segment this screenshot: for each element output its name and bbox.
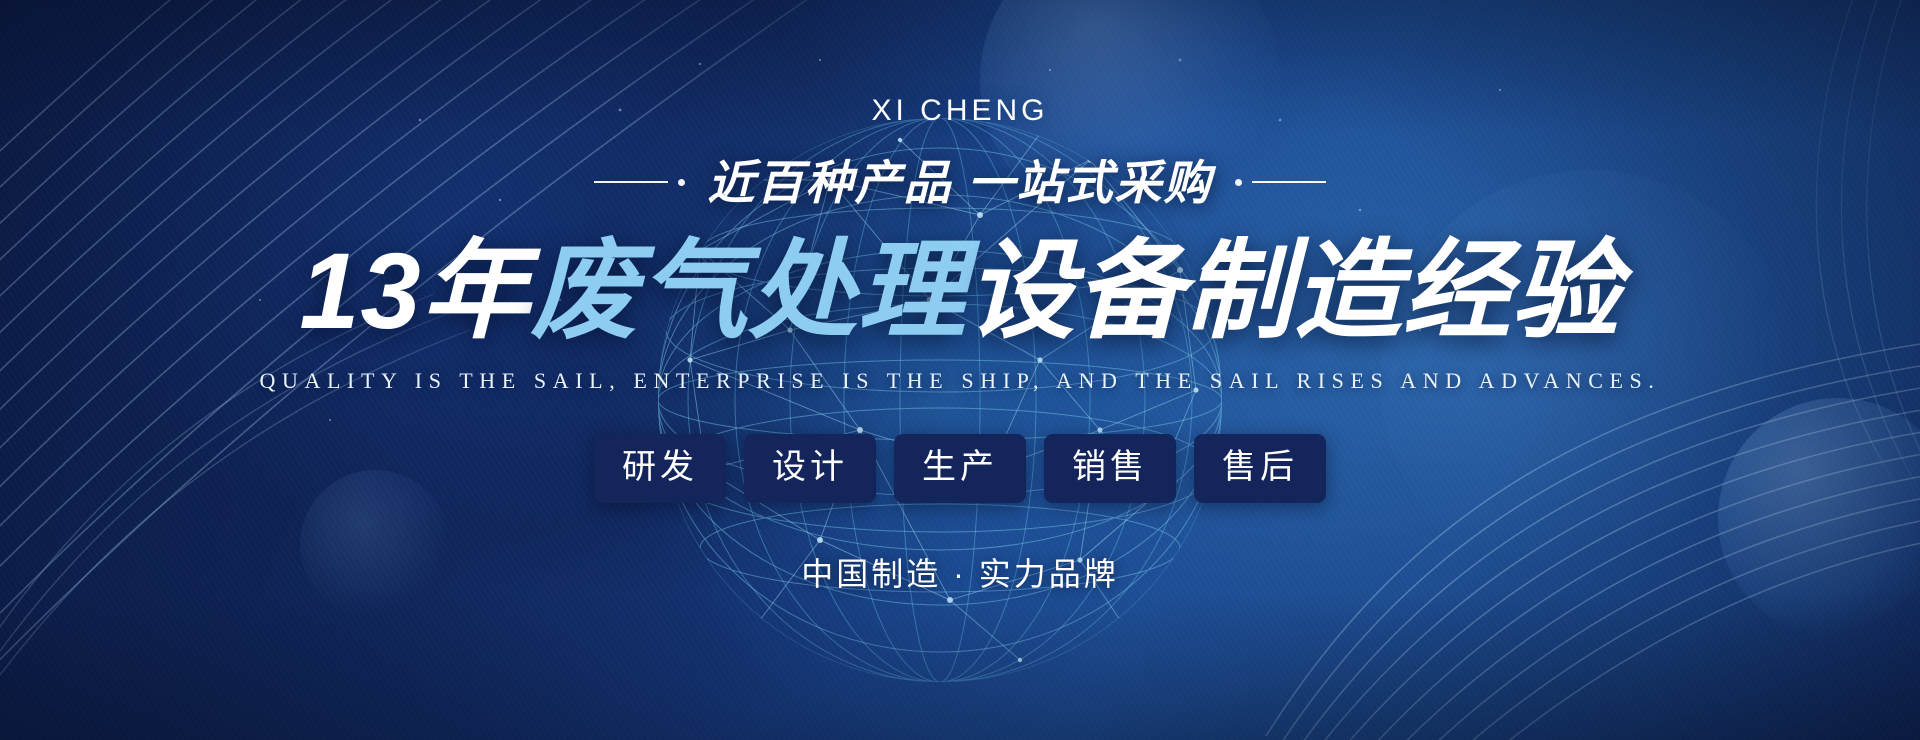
decorative-line-right: [1252, 181, 1326, 183]
pill-rd[interactable]: 研发: [594, 434, 726, 503]
pill-aftersales[interactable]: 售后: [1194, 434, 1326, 503]
footer-slogan: 中国制造 · 实力品牌: [801, 549, 1118, 595]
headline-accent: 废气处理: [531, 230, 967, 351]
brand-english-name: XI CHENG: [871, 96, 1048, 126]
pill-design[interactable]: 设计: [744, 434, 876, 503]
decorative-dot-left: [678, 179, 685, 186]
subtitle-text: 近百种产品 一站式采购: [707, 159, 1212, 206]
headline-lead: 13年: [299, 230, 530, 351]
decorative-dot-right: [1235, 179, 1242, 186]
english-tagline: QUALITY IS THE SAIL, ENTERPRISE IS THE S…: [260, 368, 1661, 394]
service-pill-row: 研发 设计 生产 销售 售后: [594, 434, 1326, 503]
decorative-dash-dot-left-icon: [594, 179, 685, 186]
headline-tail: 设备制造经验: [967, 230, 1621, 351]
pill-production[interactable]: 生产: [894, 434, 1026, 503]
decorative-dot-dash-right-icon: [1235, 179, 1326, 186]
pill-sales[interactable]: 销售: [1044, 434, 1176, 503]
decorative-line-left: [594, 181, 668, 183]
headline: 13年废气处理设备制造经验: [299, 234, 1620, 348]
banner-content: XI CHENG 近百种产品 一站式采购 13年废气处理设备制造经验 QUALI…: [0, 0, 1920, 740]
hero-banner: XI CHENG 近百种产品 一站式采购 13年废气处理设备制造经验 QUALI…: [0, 0, 1920, 740]
subtitle-row: 近百种产品 一站式采购: [594, 152, 1325, 212]
